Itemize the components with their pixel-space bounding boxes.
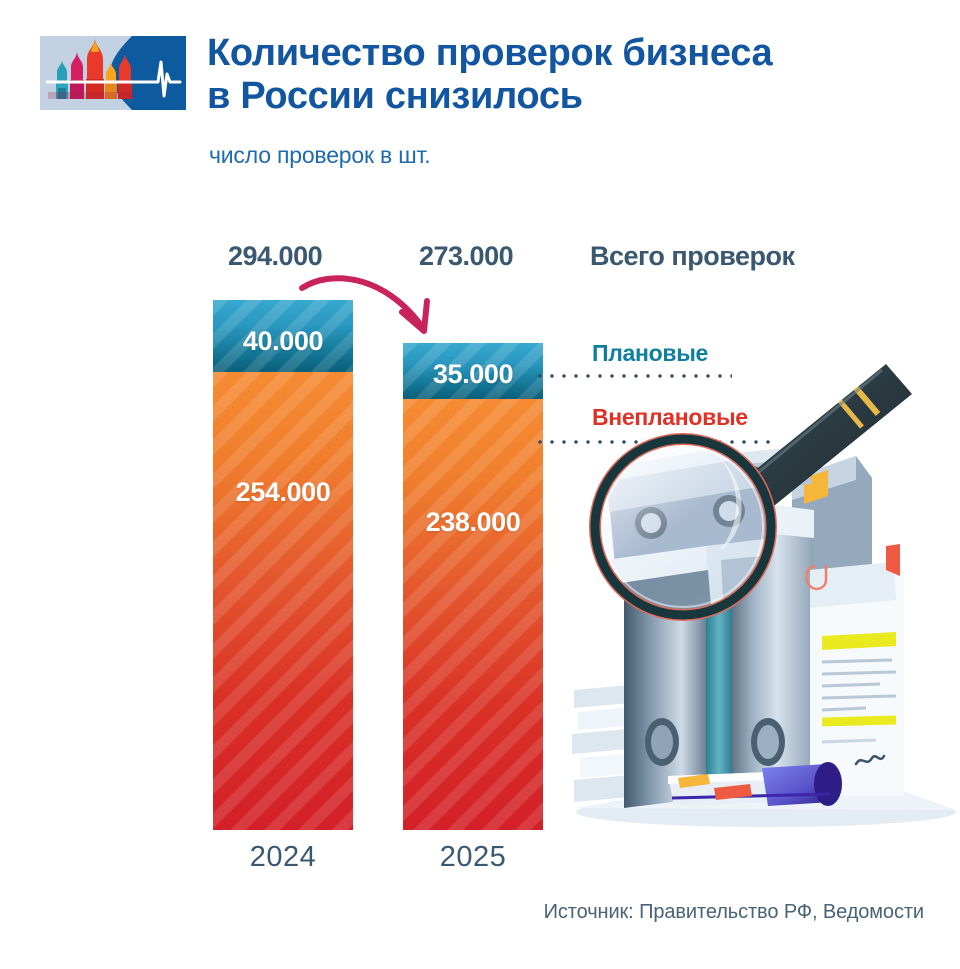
bar-2025-planned-value: 35.000 xyxy=(403,359,543,390)
page-title-line2: в России снизилось xyxy=(207,75,907,118)
page-title-line1: Количество проверок бизнеса xyxy=(207,32,907,75)
infographic-canvas: Количество проверок бизнеса в России сни… xyxy=(0,0,960,969)
bar-2024: 40.000 254.000 xyxy=(213,300,353,830)
source-caption: Источник: Правительство РФ, Ведомости xyxy=(544,901,924,924)
bar-2025: 35.000 238.000 xyxy=(403,343,543,830)
bar-2025-segment-planned: 35.000 xyxy=(403,343,543,399)
bar-2025-unplanned-value: 238.000 xyxy=(403,507,543,538)
page-subtitle: число проверок в шт. xyxy=(209,142,430,169)
page-title: Количество проверок бизнеса в России сни… xyxy=(207,32,907,118)
bar-2024-planned-value: 40.000 xyxy=(213,326,353,357)
magnifier-over-binders-illustration xyxy=(556,360,960,850)
bar-2025-segment-unplanned: 238.000 xyxy=(403,399,543,830)
st-basils-pulse-logo xyxy=(40,36,186,110)
bar-2024-segment-unplanned: 254.000 xyxy=(213,372,353,830)
total-series-label: Всего проверок xyxy=(590,241,794,272)
axis-label-2025: 2025 xyxy=(403,841,543,874)
document-sheet xyxy=(807,544,904,796)
bar-2024-segment-planned: 40.000 xyxy=(213,300,353,372)
bar-2024-unplanned-value: 254.000 xyxy=(213,477,353,508)
axis-label-2024: 2024 xyxy=(213,841,353,874)
